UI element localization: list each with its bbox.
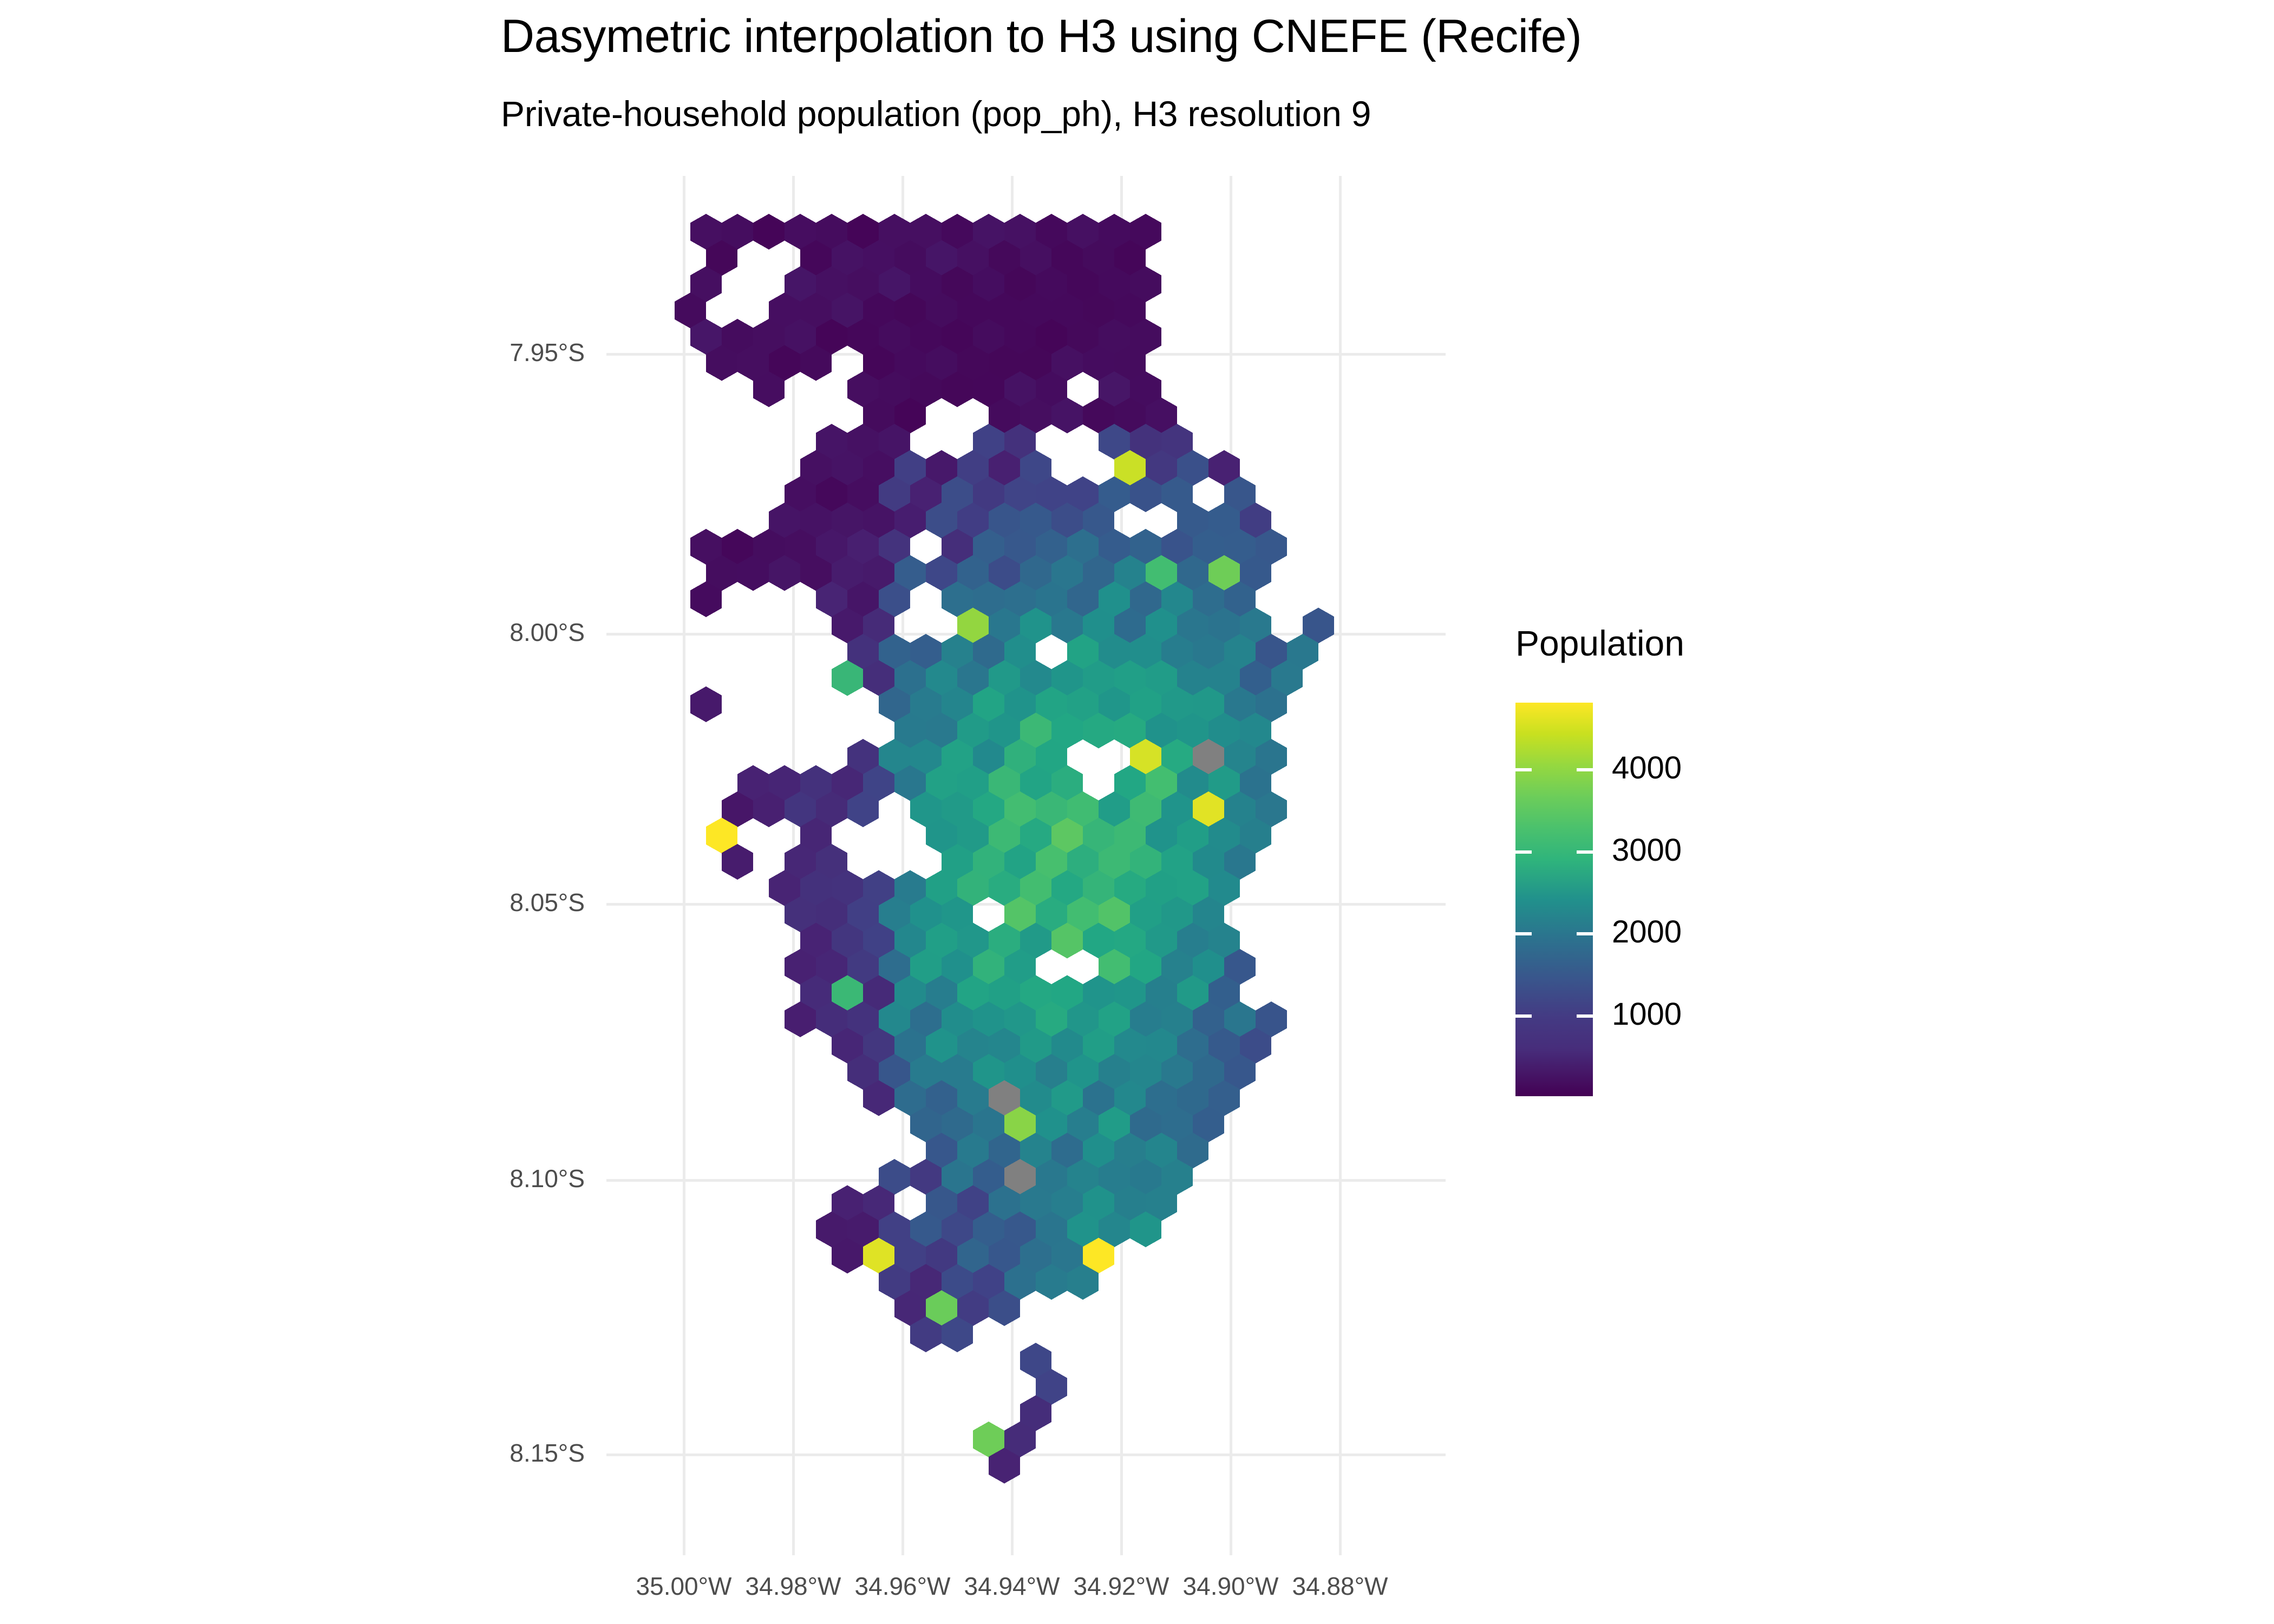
hex-map	[606, 176, 1446, 1555]
x-axis-labels: 35.00°W34.98°W34.96°W34.94°W34.92°W34.90…	[0, 1571, 2274, 1615]
legend-tick-left-1	[1515, 850, 1532, 854]
legend-tick-left-2	[1515, 932, 1532, 935]
legend-colorbar	[1515, 703, 1593, 1096]
page-title: Dasymetric interpolation to H3 using CNE…	[501, 10, 1582, 63]
legend-label-0: 4000	[1612, 750, 1763, 786]
legend-label-2: 2000	[1612, 914, 1763, 950]
legend-tick-left-0	[1515, 768, 1532, 771]
y-axis-labels: 7.95°S8.00°S8.05°S8.10°S8.15°S	[411, 0, 585, 1624]
map-panel	[606, 176, 1446, 1555]
y-axis-tick-2: 8.05°S	[411, 888, 585, 917]
legend-tick-right-3	[1577, 1014, 1593, 1018]
legend: Population 4000300020001000	[1515, 623, 1894, 1137]
y-axis-tick-4: 8.15°S	[411, 1438, 585, 1468]
page-subtitle: Private-household population (pop_ph), H…	[501, 93, 1371, 134]
y-axis-tick-1: 8.00°S	[411, 618, 585, 647]
legend-title: Population	[1515, 623, 1684, 664]
legend-tick-right-2	[1577, 932, 1593, 935]
legend-label-1: 3000	[1612, 832, 1763, 868]
legend-tick-right-0	[1577, 768, 1593, 771]
y-axis-tick-3: 8.10°S	[411, 1164, 585, 1193]
h3-hex-cell	[753, 214, 785, 250]
legend-tick-right-1	[1577, 850, 1593, 854]
y-axis-tick-0: 7.95°S	[411, 338, 585, 367]
x-axis-tick-6: 34.88°W	[1259, 1571, 1421, 1601]
legend-tick-left-3	[1515, 1014, 1532, 1018]
h3-hex-cell	[690, 686, 722, 722]
plot-root: Dasymetric interpolation to H3 using CNE…	[0, 0, 2274, 1624]
legend-label-3: 1000	[1612, 996, 1763, 1032]
